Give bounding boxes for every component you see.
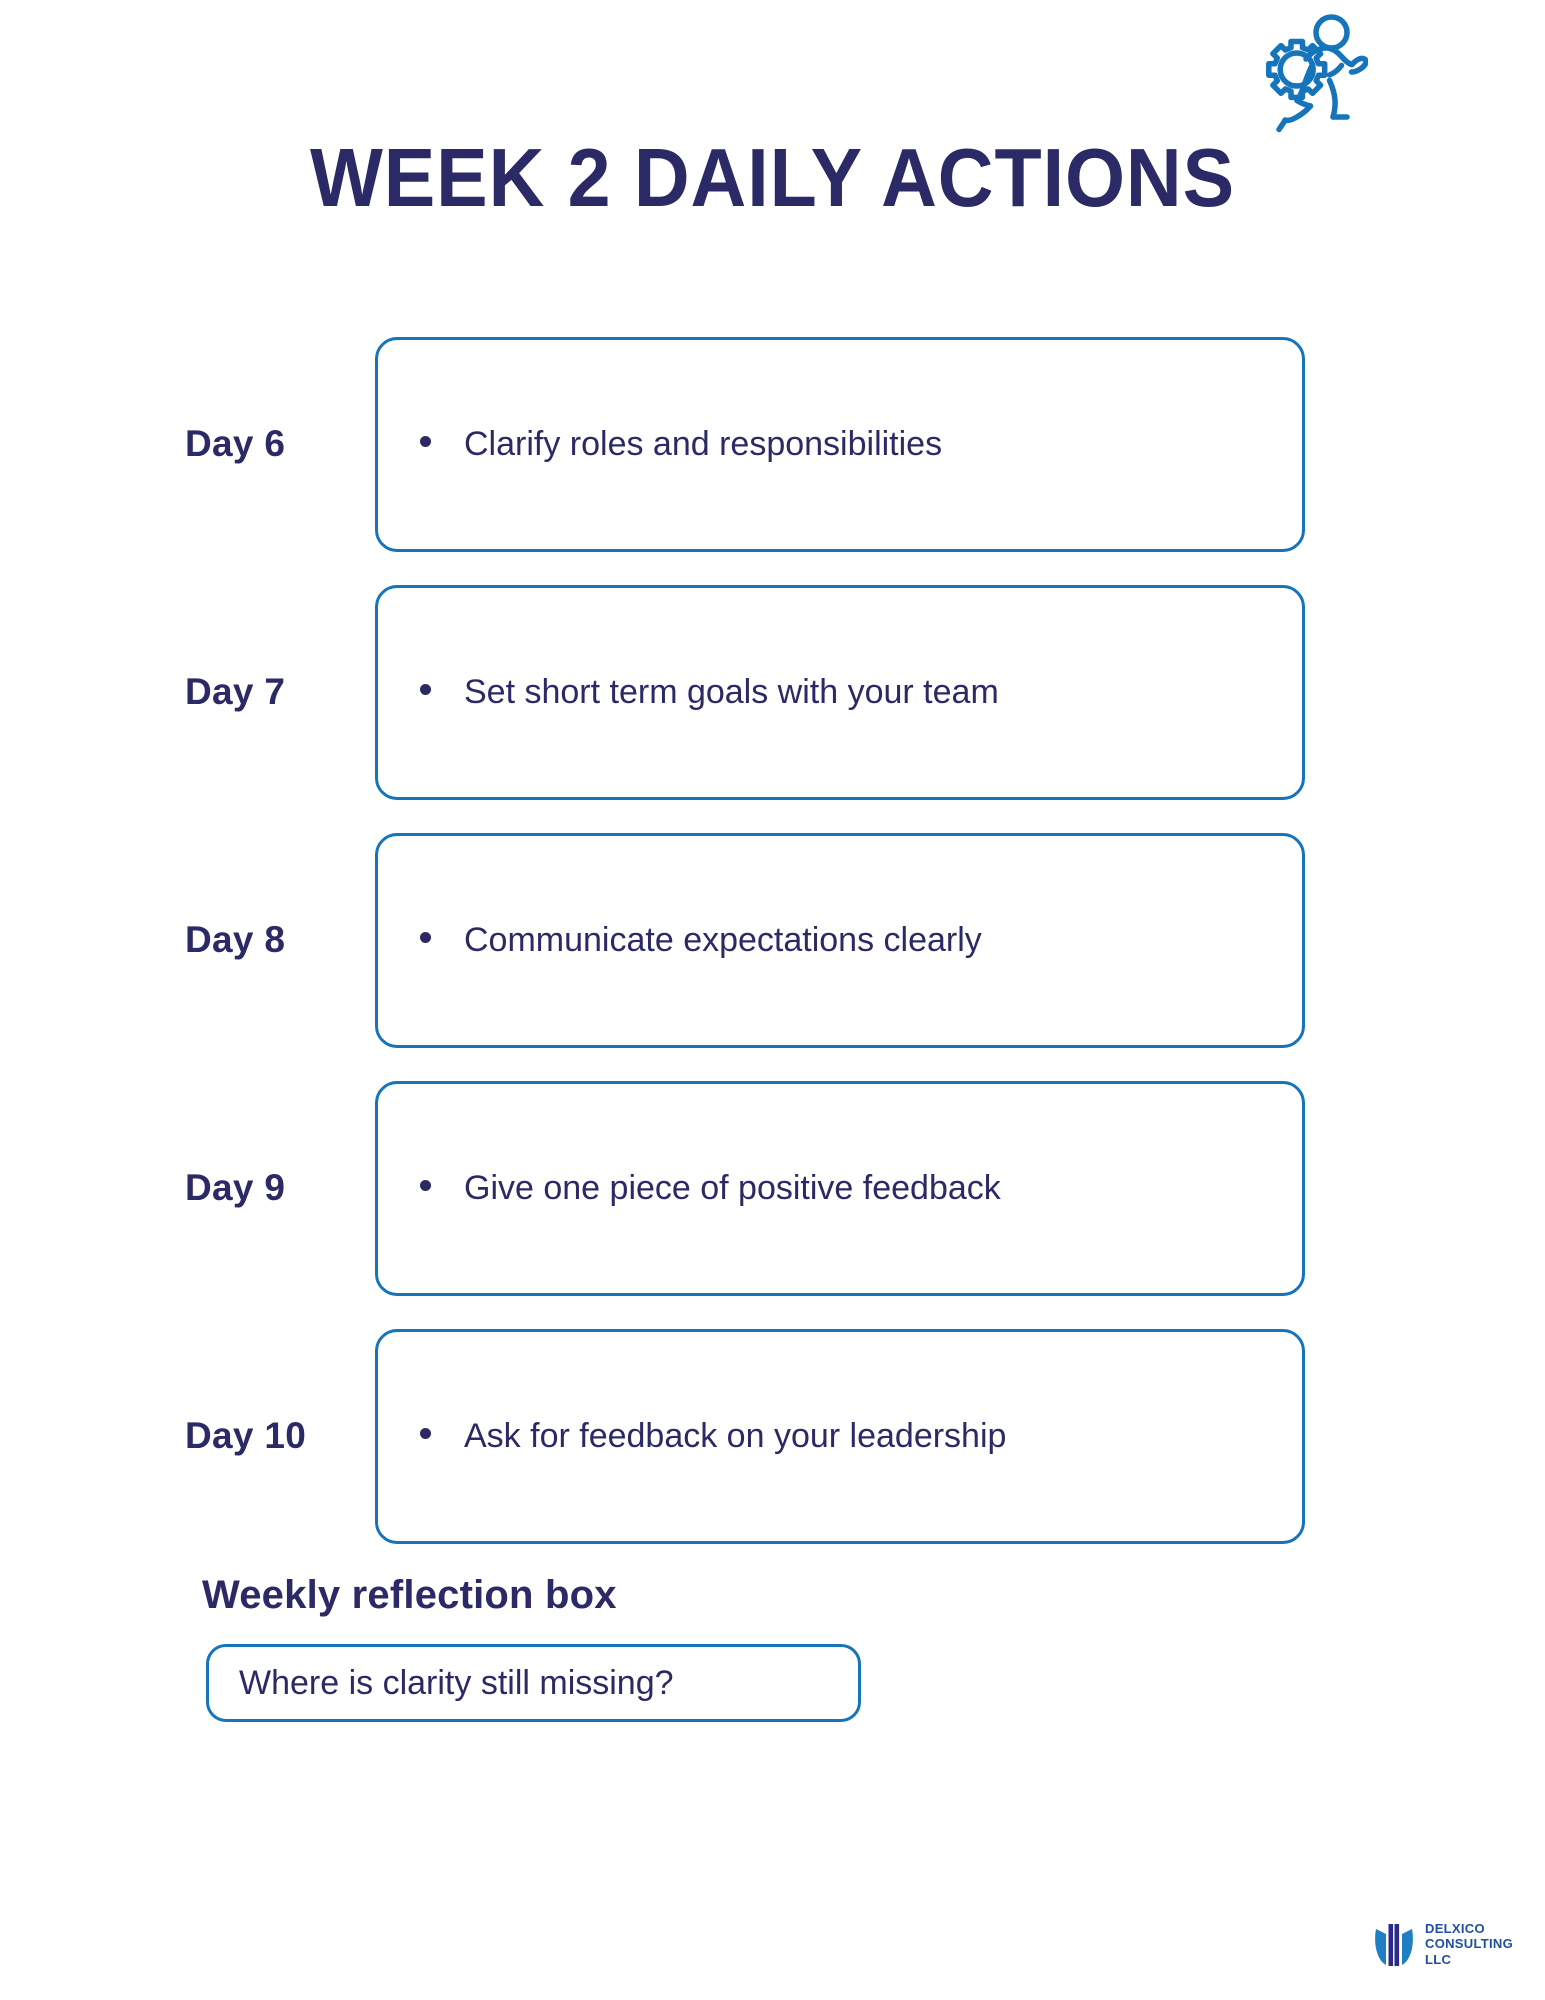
day-action-box[interactable]: Set short term goals with your team bbox=[375, 585, 1305, 800]
logo-line-3: LLC bbox=[1425, 1952, 1513, 1967]
day-label: Day 8 bbox=[185, 919, 375, 961]
company-logo: DELXICO CONSULTING LLC bbox=[1372, 1920, 1513, 1968]
day-label: Day 6 bbox=[185, 423, 375, 465]
reflection-prompt: Where is clarity still missing? bbox=[209, 1664, 674, 1703]
bullet-dot-icon bbox=[420, 1428, 431, 1439]
action-text: Set short term goals with your team bbox=[464, 671, 999, 714]
day-label: Day 10 bbox=[185, 1415, 375, 1457]
list-item: Give one piece of positive feedback bbox=[378, 1167, 1001, 1210]
list-item: Ask for feedback on your leadership bbox=[378, 1415, 1006, 1458]
day-row: Day 9 Give one piece of positive feedbac… bbox=[0, 1064, 1545, 1312]
bullet-dot-icon bbox=[420, 1180, 431, 1191]
action-text: Clarify roles and responsibilities bbox=[464, 423, 942, 466]
action-text: Give one piece of positive feedback bbox=[464, 1167, 1001, 1210]
logo-line-1: DELXICO bbox=[1425, 1921, 1513, 1936]
logo-line-2: CONSULTING bbox=[1425, 1936, 1513, 1951]
person-pushing-gear-icon bbox=[1228, 8, 1368, 138]
bullet-dot-icon bbox=[420, 684, 431, 695]
day-action-box[interactable]: Communicate expectations clearly bbox=[375, 833, 1305, 1048]
day-label: Day 9 bbox=[185, 1167, 375, 1209]
daily-actions-list: Day 6 Clarify roles and responsibilities… bbox=[0, 320, 1545, 1560]
reflection-heading: Weekly reflection box bbox=[202, 1573, 1102, 1618]
list-item: Set short term goals with your team bbox=[378, 671, 999, 714]
day-row: Day 6 Clarify roles and responsibilities bbox=[0, 320, 1545, 568]
day-label: Day 7 bbox=[185, 671, 375, 713]
bullet-dot-icon bbox=[420, 932, 431, 943]
action-text: Communicate expectations clearly bbox=[464, 919, 982, 962]
list-item: Clarify roles and responsibilities bbox=[378, 423, 942, 466]
day-action-box[interactable]: Ask for feedback on your leadership bbox=[375, 1329, 1305, 1544]
logo-wordmark: DELXICO CONSULTING LLC bbox=[1425, 1921, 1513, 1967]
day-action-box[interactable]: Clarify roles and responsibilities bbox=[375, 337, 1305, 552]
weekly-reflection-section: Weekly reflection box Where is clarity s… bbox=[202, 1573, 1102, 1722]
page-title: WEEK 2 DAILY ACTIONS bbox=[54, 136, 1491, 219]
bar-chart-logo-icon bbox=[1372, 1920, 1416, 1968]
reflection-input-box[interactable]: Where is clarity still missing? bbox=[206, 1644, 861, 1722]
day-row: Day 7 Set short term goals with your tea… bbox=[0, 568, 1545, 816]
bullet-dot-icon bbox=[420, 436, 431, 447]
action-text: Ask for feedback on your leadership bbox=[464, 1415, 1006, 1458]
list-item: Communicate expectations clearly bbox=[378, 919, 982, 962]
day-action-box[interactable]: Give one piece of positive feedback bbox=[375, 1081, 1305, 1296]
day-row: Day 8 Communicate expectations clearly bbox=[0, 816, 1545, 1064]
day-row: Day 10 Ask for feedback on your leadersh… bbox=[0, 1312, 1545, 1560]
